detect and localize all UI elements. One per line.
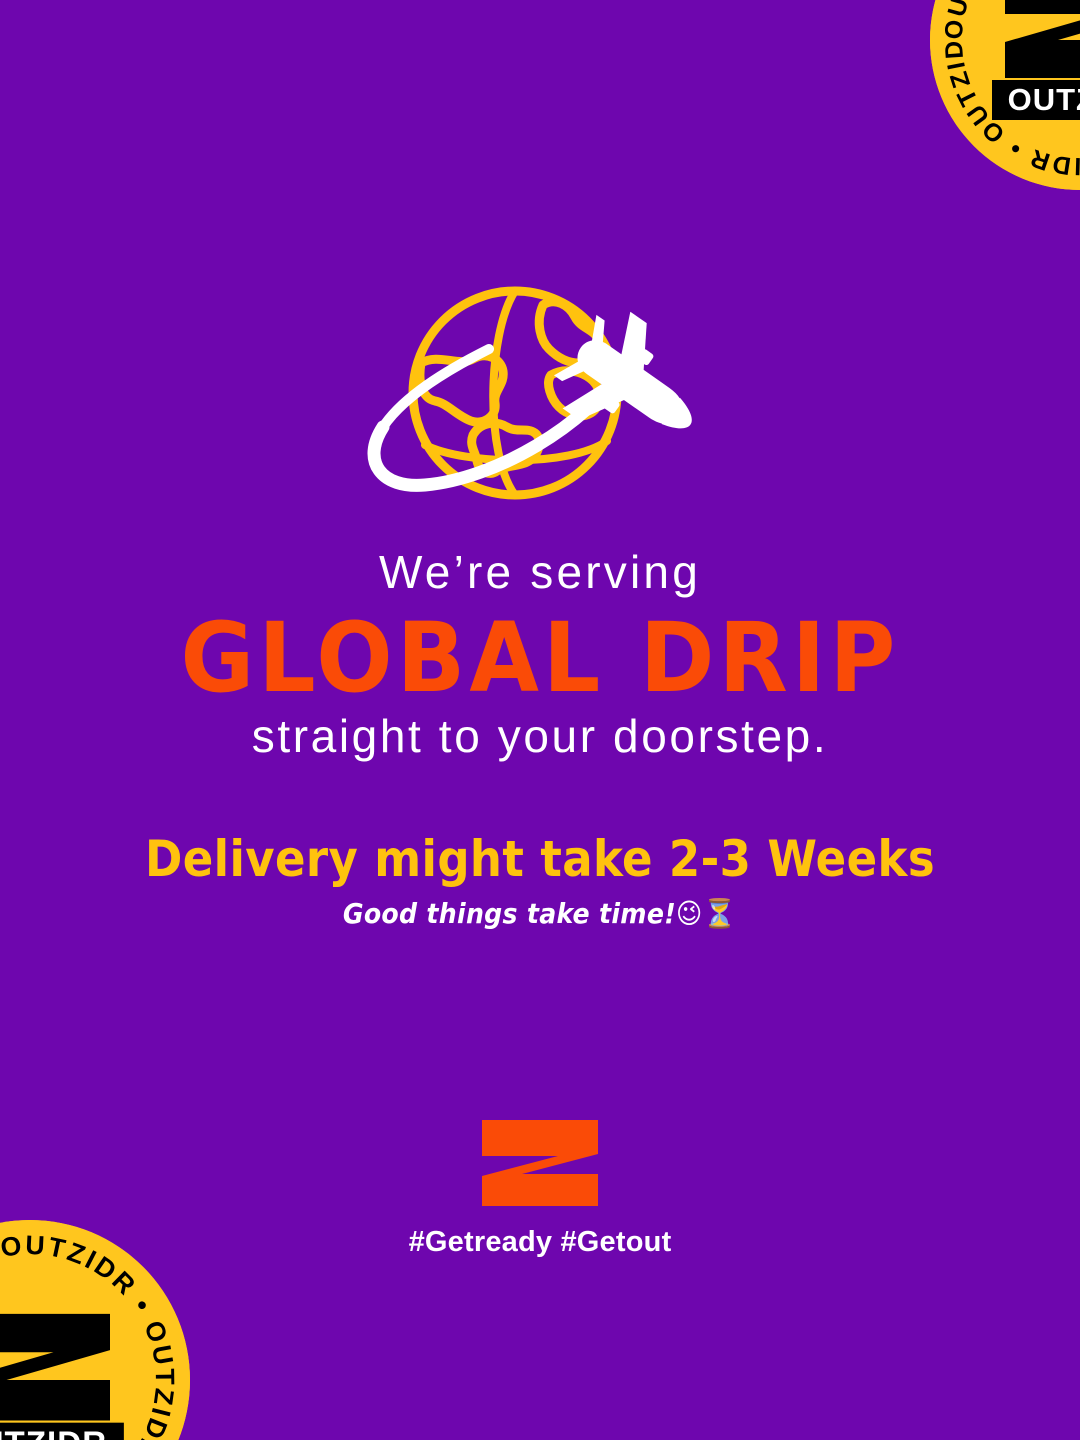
headline-block: We’re serving GLOBAL DRIP straight to yo… (0, 548, 1080, 930)
airplane-icon (541, 297, 723, 474)
globe-continents (420, 302, 600, 474)
eyebrow-text: We’re serving (0, 548, 1080, 596)
badge-wordmark: OUTZIDR (0, 1423, 124, 1440)
subline-text: straight to your doorstep. (0, 712, 1080, 760)
z-logo (478, 1118, 602, 1208)
svg-text:OUTZIDR: OUTZIDR (0, 1426, 107, 1440)
outzidr-badge-bottom-left: OUTZIDR • OUTZIDR • OUTZIDR • OUTZIDR • … (0, 1220, 190, 1440)
reassurance-line: Good things take time!😉⏳ (0, 899, 1080, 930)
reassurance-text: Good things take time! (343, 897, 676, 930)
badge-wordmark: OUTZIDR (992, 80, 1080, 120)
svg-text:OUTZIDR: OUTZIDR (1008, 82, 1080, 117)
poster-canvas: OUTZIDR • OUTZIDR • OUTZIDR • OUTZIDR • … (0, 0, 1080, 1440)
globe-airplane-icon (355, 275, 725, 510)
delivery-notice-text: Delivery might take 2-3 Weeks (0, 833, 1080, 886)
reassurance-emoji: 😉⏳ (676, 897, 737, 930)
headline-text: GLOBAL DRIP (0, 610, 1080, 706)
outzidr-badge-top-right: OUTZIDR • OUTZIDR • OUTZIDR • OUTZIDR • … (930, 0, 1080, 190)
